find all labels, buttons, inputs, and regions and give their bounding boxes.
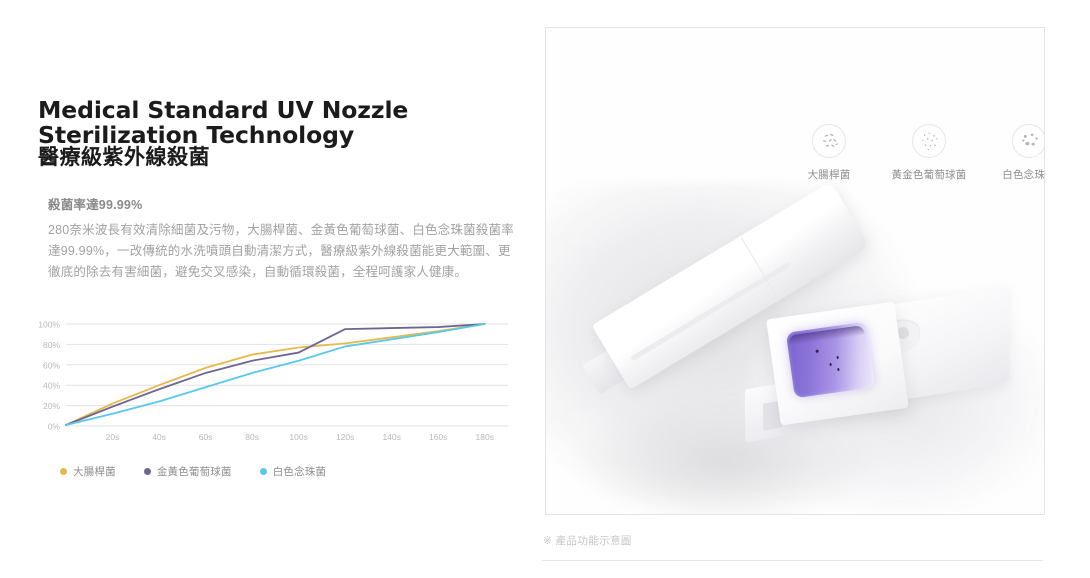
y-axis-tick-label: 0% <box>48 422 61 432</box>
bacteria-icon-cell: 黃金色葡萄球菌 <box>890 124 968 182</box>
title-block: Medical Standard UV Nozzle Sterilization… <box>38 98 518 171</box>
product-photo: 大腸桿菌黃金色葡萄球菌白色念珠菌 <box>546 28 1044 514</box>
x-axis-tick-label: 20s <box>106 432 120 442</box>
uv-emitter-dot <box>836 356 839 359</box>
bacteria-icon-cell: 大腸桿菌 <box>790 124 868 182</box>
photo-caption: ※ 產品功能示意圖 <box>543 533 632 548</box>
cocci-bacteria-icon <box>912 124 946 158</box>
bacteria-icon-label: 大腸桿菌 <box>790 167 868 182</box>
x-axis-tick-label: 60s <box>199 432 213 442</box>
x-axis-tick-label: 40s <box>152 432 166 442</box>
x-axis-tick-label: 160s <box>429 432 447 442</box>
chart-series-line <box>66 324 485 425</box>
x-axis-tick-label: 80s <box>245 432 259 442</box>
yeast-bacteria-icon <box>1012 124 1045 158</box>
bacteria-icon-label: 白色念珠菌 <box>990 167 1045 182</box>
legend-color-dot <box>260 468 267 475</box>
uv-emitter-dot <box>816 350 819 353</box>
x-axis-tick-label: 180s <box>476 432 494 442</box>
right-media-column: 大腸桿菌黃金色葡萄球菌白色念珠菌 ※ 產品功能示意圖 <box>541 0 1090 578</box>
left-content-column: Medical Standard UV Nozzle Sterilization… <box>0 0 540 578</box>
y-axis-tick-label: 60% <box>43 360 60 370</box>
rod-bacteria-icon <box>812 124 846 158</box>
x-axis-tick-label: 140s <box>382 432 400 442</box>
uv-lamp-panel <box>786 322 875 399</box>
product-feature-page: Medical Standard UV Nozzle Sterilization… <box>0 0 1090 578</box>
y-axis-tick-label: 20% <box>43 401 60 411</box>
legend-color-dot <box>60 468 67 475</box>
description-lead: 殺菌率達99.99% <box>48 196 518 214</box>
chart-svg: 0%20%40%60%80%100%20s40s60s80s100s120s14… <box>28 318 518 448</box>
legend-item: 金黃色葡萄球菌 <box>144 464 232 479</box>
page-title-english: Medical Standard UV Nozzle Sterilization… <box>38 98 518 148</box>
x-axis-tick-label: 100s <box>289 432 307 442</box>
description-paragraph: 280奈米波長有效清除細菌及污物，大腸桿菌、金黃色葡萄球菌、白色念珠菌殺菌率達9… <box>48 220 518 283</box>
product-photo-frame: 大腸桿菌黃金色葡萄球菌白色念珠菌 <box>545 27 1045 515</box>
y-axis-tick-label: 100% <box>38 320 60 330</box>
y-axis-tick-label: 80% <box>43 340 60 350</box>
legend-color-dot <box>144 468 151 475</box>
sterilization-rate-chart: 0%20%40%60%80%100%20s40s60s80s100s120s14… <box>28 318 518 488</box>
legend-label: 金黃色葡萄球菌 <box>157 464 232 479</box>
bacteria-icon-label: 黃金色葡萄球菌 <box>890 167 968 182</box>
x-axis-tick-label: 120s <box>336 432 354 442</box>
legend-item: 大腸桿菌 <box>60 464 116 479</box>
legend-item: 白色念珠菌 <box>260 464 327 479</box>
chart-legend: 大腸桿菌金黃色葡萄球菌白色念珠菌 <box>60 464 326 479</box>
uv-emitter-dot <box>829 363 832 366</box>
rod-bacteria-icon-glyph <box>813 125 847 159</box>
legend-label: 大腸桿菌 <box>73 464 116 479</box>
y-axis-tick-label: 40% <box>43 381 60 391</box>
section-divider <box>542 560 1043 561</box>
uv-emitter-dot <box>837 368 840 371</box>
description-block: 殺菌率達99.99% 280奈米波長有效清除細菌及污物，大腸桿菌、金黃色葡萄球菌… <box>48 196 518 283</box>
yeast-bacteria-icon-glyph <box>1013 125 1045 159</box>
legend-label: 白色念珠菌 <box>273 464 327 479</box>
bacteria-icon-cell: 白色念珠菌 <box>990 124 1045 182</box>
cocci-bacteria-icon-glyph <box>913 125 947 159</box>
bacteria-icon-row: 大腸桿菌黃金色葡萄球菌白色念珠菌 <box>790 124 1045 182</box>
